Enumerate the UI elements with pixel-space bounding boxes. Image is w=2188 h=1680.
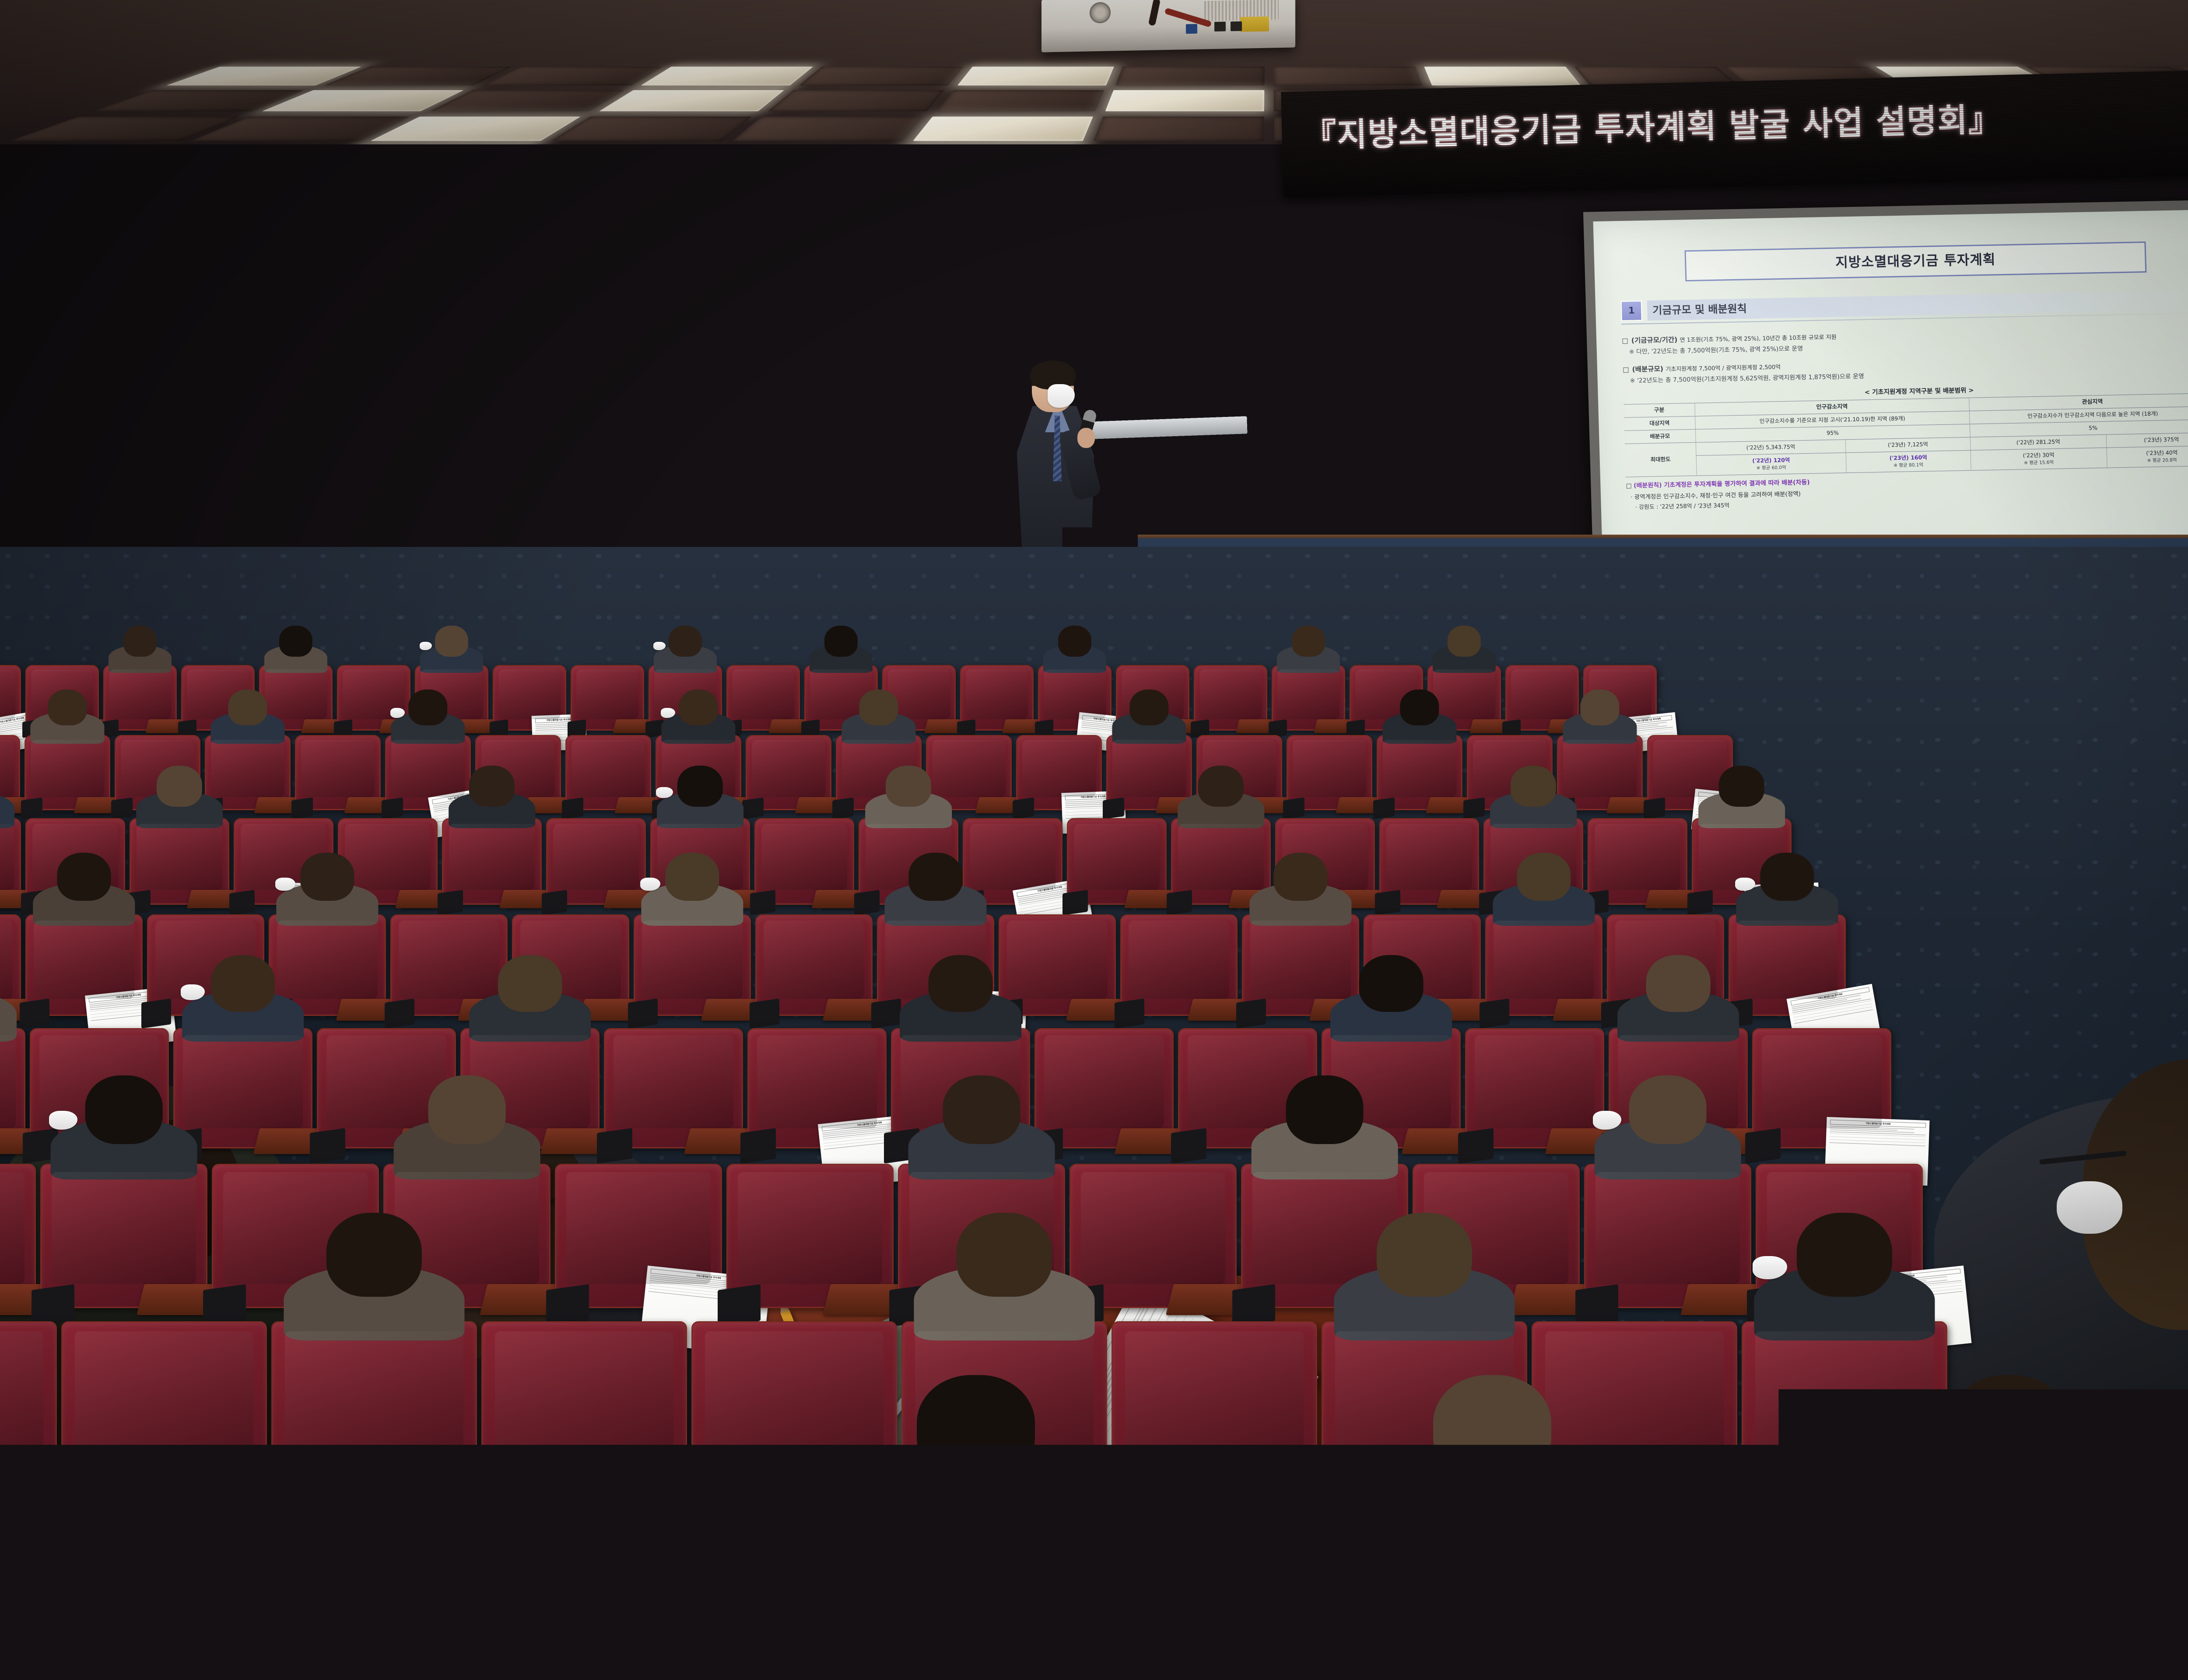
seat-armrest [597, 1128, 632, 1164]
auditorium-seat[interactable] [1365, 1509, 1619, 1680]
attendee-head [679, 689, 718, 725]
ac-vent-grille [1012, 196, 1128, 224]
auditorium-seat[interactable] [1069, 1164, 1237, 1308]
slide-section-header: 1 기금규모 및 배분원칙 [1621, 290, 2188, 321]
auditorium-seat[interactable] [1107, 1509, 1361, 1680]
seated-attendee [656, 626, 715, 673]
auditorium-seat[interactable] [173, 1028, 312, 1148]
auditorium-seat[interactable] [571, 665, 644, 731]
seat-armrest [438, 890, 463, 915]
screen-surface: 지방소멸대응기금 투자계획 1 기금규모 및 배분원칙 □(기금규모/기간) 연… [1593, 209, 2188, 579]
presenter-hand [1077, 428, 1095, 448]
auditorium-seat[interactable] [726, 665, 800, 731]
banner-logo: 양구로부터 다함께 행복해 집니다 [1203, 154, 1286, 176]
banner-logo-text: 양구로부터 [1222, 157, 1266, 169]
auditorium-seat[interactable] [1882, 1509, 2135, 1680]
auditorium-seat[interactable] [0, 1164, 36, 1308]
seated-attendee [32, 689, 102, 744]
slide-data-table: 구분 인구감소지역 관심지역 대상지역 인구감소지수를 기준으로 지정 고시('… [1623, 393, 2188, 477]
slide-title-box: 지방소멸대응기금 투자계획 [1684, 241, 2146, 281]
attendee-head [859, 689, 898, 725]
attendee-head [123, 626, 157, 657]
auditorium-seat[interactable] [481, 1321, 687, 1498]
poster-main-line1: 인간의 [776, 315, 821, 331]
slide-section-number: 1 [1621, 301, 1642, 321]
bullet-label-1: (기금규모/기간) [1631, 336, 1678, 344]
seat-armrest [854, 890, 880, 915]
seat-armrest [1575, 1284, 1618, 1327]
auditorium-seat[interactable] [61, 1321, 267, 1498]
attendee-head [428, 1075, 506, 1144]
seated-attendee [139, 766, 220, 828]
auditorium-seat[interactable] [1034, 1028, 1174, 1148]
projector-label [1240, 17, 1269, 32]
framed-landscape-picture [0, 260, 53, 427]
seated-attendee [659, 766, 741, 828]
attendee-head [908, 853, 962, 901]
seated-attendee [870, 1375, 1081, 1533]
seated-attendee [0, 955, 13, 1042]
auditorium-seat[interactable]: 지방소멸대응기금 투자계획 [1038, 665, 1112, 731]
footnote-text-1: (배분원칙) 기초계정은 투자계획을 평가하여 결과에 따라 배분(차등) [1634, 479, 1810, 490]
auditorium-seat[interactable] [591, 1509, 845, 1680]
seat-armrest [291, 797, 313, 819]
seat-row [0, 1509, 2140, 1680]
attendee-head [157, 766, 202, 807]
table-avg-2: ※ 평균 15.6억 [1972, 458, 2105, 468]
seat-armrest [382, 797, 403, 819]
seated-attendee [844, 689, 914, 744]
table-cap-cell-3: ('23년) 40억 ※ 평균 20.8억 [2107, 445, 2188, 468]
seated-attendee [1565, 689, 1635, 744]
seated-attendee [0, 766, 12, 828]
seat-armrest [546, 1284, 589, 1327]
poster-bracket-right: ] [823, 328, 825, 335]
attendee-head [300, 853, 354, 901]
seat-armrest [385, 999, 414, 1029]
table-cap-2: ('22년) 30억 [2023, 451, 2054, 458]
campaign-poster: 노상방뇨 행복한 변화 강원시대 [ 인간의 존엄 ] 강원도지사최 문 순 [759, 274, 840, 400]
seat-armrest [111, 797, 133, 819]
running-man-icon [452, 279, 463, 297]
seat-armrest [203, 1284, 246, 1327]
seated-attendee [110, 626, 170, 673]
seated-attendee [393, 689, 463, 744]
attendee-head [1760, 853, 1814, 901]
seated-attendee [1493, 766, 1574, 828]
poster-subtitle: 행복한 변화 강원시대 [776, 307, 821, 314]
table-cap-cell-2: ('22년) 30억 ※ 평균 15.6억 [1971, 448, 2107, 470]
auditorium-seat[interactable] [1112, 1321, 1317, 1498]
auditorium-seat[interactable] [1106, 735, 1192, 810]
banner-divider [1224, 184, 1264, 185]
auditorium-seat[interactable] [546, 818, 646, 905]
table-cap-cell-1: ('23년) 160억 ※ 평균 80.1억 [1846, 450, 1971, 473]
seat-armrest [1232, 1284, 1275, 1327]
yanggu-vertical-banner: 양구로부터 다함께 행복해 집니다 다함께 만드는 양구 [1203, 145, 1286, 583]
attendee-head [1517, 853, 1571, 901]
projector-fan-icon [1090, 2, 1111, 24]
seat-armrest [1375, 890, 1400, 915]
led-banner-title: 『지방소멸대응기금 투자계획 발굴 사업 설명회』 [1303, 93, 2002, 157]
seated-attendee [1903, 1375, 2114, 1533]
seated-attendee [213, 689, 283, 744]
auditorium-seat[interactable] [103, 665, 177, 731]
seated-attendee [644, 853, 740, 926]
auditorium-seat[interactable] [1623, 1509, 1877, 1680]
air-conditioner-unit [1006, 192, 1133, 227]
seat-armrest [1115, 999, 1144, 1029]
auditorium-seat[interactable] [634, 914, 751, 1016]
seated-attendee [1045, 626, 1105, 673]
seated-attendee [451, 766, 533, 828]
seated-attendee [186, 955, 300, 1042]
table-avg-3: ※ 평균 20.8억 [2108, 456, 2188, 465]
table-row-label-0: 대상지역 [1624, 416, 1695, 431]
seated-attendee [1599, 1075, 1737, 1179]
seated-attendee [279, 853, 375, 926]
seat-armrest [742, 797, 764, 819]
attendee-head [1198, 766, 1244, 807]
attendee-head [57, 853, 111, 901]
seated-attendee [1339, 1213, 1510, 1340]
ceiling-coffer [799, 66, 964, 85]
auditorium-seat[interactable]: 지방소멸대응기금 투자계획 [1752, 1028, 1891, 1148]
seated-attendee [912, 1075, 1051, 1179]
attendee-head [1950, 1375, 2068, 1479]
seat-armrest [718, 1284, 761, 1327]
auditorium-seat[interactable] [1194, 665, 1267, 731]
auditorium-seat[interactable] [74, 1509, 328, 1680]
attendee-head [1292, 626, 1325, 657]
attendee-head [279, 626, 312, 657]
seat-armrest [310, 1128, 345, 1164]
auditorium-seat[interactable] [746, 735, 831, 810]
ceiling-projector [1041, 0, 1295, 52]
seat-armrest [1480, 999, 1509, 1029]
seat-armrest [1013, 797, 1034, 819]
auditorium-seat[interactable] [442, 818, 542, 905]
auditorium-seat[interactable] [1287, 735, 1372, 810]
seated-attendee [1114, 689, 1184, 744]
attendee-head [469, 766, 515, 807]
slide-title: 지방소멸대응기금 투자계획 [1686, 247, 2146, 276]
seated-attendee [1279, 626, 1338, 673]
attendee-head [1400, 689, 1439, 725]
attendee-head [211, 955, 275, 1012]
seated-attendee [1387, 1375, 1598, 1533]
bullet-text-2: 기초지원계정 7,500억 / 광역지원계정 2,500억 [1666, 364, 1781, 373]
attendee-head [408, 689, 447, 725]
seated-attendee [36, 853, 132, 926]
seated-attendee [55, 1075, 193, 1179]
auditorium-seat[interactable]: 지방소멸대응기금 투자계획 [1016, 735, 1102, 810]
seated-attendee [473, 955, 587, 1042]
slide-body: □(기금규모/기간) 연 1조원(기초 75%, 광역 25%), 10년간 총… [1622, 325, 2188, 512]
auditorium-seat[interactable] [604, 1028, 743, 1148]
seat-armrest [21, 797, 42, 819]
table-cap-0: ('22년) 120억 [1752, 456, 1790, 464]
exit-sign-face [433, 273, 481, 303]
auditorium-seat[interactable]: 지방소멸대응기금 투자계획 [493, 665, 566, 731]
attendee-head [1719, 766, 1764, 807]
attendee-head [929, 955, 993, 1012]
presenter-face-mask [1048, 384, 1075, 408]
seated-attendee [887, 853, 984, 926]
seat-armrest [1283, 797, 1304, 819]
seated-attendee [1759, 1213, 1930, 1340]
seated-attendee [919, 1213, 1090, 1340]
attendee-head [435, 626, 468, 657]
attendee-head [1448, 626, 1481, 657]
auditorium-seat[interactable]: 지방소멸대응기금 투자계획 [555, 1164, 722, 1308]
auditorium-seat[interactable] [1120, 914, 1238, 1016]
seat-armrest [20, 999, 49, 1029]
seated-attendee [1739, 853, 1835, 926]
auditorium-seat[interactable] [1584, 1164, 1751, 1308]
attendee-head [498, 955, 562, 1012]
seated-attendee [1255, 1075, 1394, 1179]
seat-armrest [750, 890, 775, 915]
attendee-head [824, 626, 858, 657]
seat-armrest [229, 890, 255, 915]
seated-attendee [811, 626, 871, 673]
auditorium-seat[interactable] [726, 1164, 894, 1308]
seat-armrest [1062, 890, 1088, 915]
projector-port-vga [1231, 21, 1242, 31]
bullet-label-2: (배분규모) [1632, 365, 1663, 373]
seated-attendee [266, 626, 326, 673]
table-row-label-1: 배분규모 [1624, 429, 1696, 444]
attendee-head [677, 766, 723, 807]
auditorium-seat[interactable] [1588, 818, 1687, 905]
ceiling-coffer [483, 66, 663, 85]
wall-speaker-right [1112, 219, 1179, 306]
poster-bracket-left: [ [773, 329, 775, 335]
auditorium-seat[interactable] [0, 818, 21, 905]
seat-armrest [141, 999, 171, 1029]
table-row-label-limit: 최대한도 [1625, 442, 1697, 477]
presentation-slide: 지방소멸대응기금 투자계획 1 기금규모 및 배분원칙 □(기금규모/기간) 연… [1593, 209, 2188, 579]
attendee-head [665, 853, 719, 901]
bullet-text-1: 연 1조원(기초 75%, 광역 25%), 10년간 총 10조원 규모로 지… [1680, 334, 1836, 343]
seat-armrest [1236, 999, 1266, 1029]
table-cap-1: ('23년) 160억 [1889, 454, 1927, 461]
attendee-head [1377, 1213, 1472, 1297]
presenter-speaker [1006, 363, 1107, 569]
seated-attendee [1334, 955, 1448, 1042]
auditorium-seat[interactable] [849, 1509, 1103, 1680]
seated-attendee [1252, 853, 1349, 926]
seated-attendee [1701, 766, 1782, 828]
attendee-head [1273, 853, 1327, 901]
auditorium-seat[interactable] [754, 818, 854, 905]
attendee-head [1129, 689, 1168, 725]
auditorium-seat[interactable] [0, 1509, 70, 1680]
auditorium-seat[interactable] [755, 914, 873, 1016]
poster-role: 강원도지사 [780, 389, 798, 393]
table-cap-3: ('23년) 40억 [2146, 449, 2177, 456]
auditorium-seat[interactable] [960, 665, 1034, 731]
seat-armrest [750, 999, 779, 1029]
auditorium-seat[interactable]: 지방소멸대응기금 투자계획 [271, 1321, 477, 1498]
foreground-attendee-right-mask [2057, 1181, 2122, 1234]
poster-tag: 노상방뇨 [785, 277, 812, 285]
seat-armrest [1171, 1128, 1206, 1164]
auditorium-seat[interactable] [130, 818, 229, 905]
auditorium-seat[interactable] [1272, 665, 1345, 731]
footnote-square-icon: □ [1626, 483, 1632, 490]
banner-slogan: 다함께 만드는 양구 [1203, 195, 1286, 292]
seat-armrest [871, 999, 901, 1029]
table-amount-3: ('23년) 375억 [2106, 432, 2188, 448]
seated-attendee [398, 1075, 536, 1179]
attendee-head [957, 1213, 1052, 1297]
handout-title-small: 지방소멸대응기금 투자계획 [1830, 1120, 1926, 1128]
seat-armrest [542, 890, 567, 915]
projection-screen: 지방소멸대응기금 투자계획 1 기금규모 및 배분원칙 □(기금규모/기간) 연… [1583, 199, 2188, 593]
attendee-head [669, 626, 702, 657]
slide-section-title: 기금규모 및 배분원칙 [1647, 290, 2188, 321]
ceiling-light-panel [641, 66, 813, 85]
auditorium-seat[interactable] [333, 1509, 586, 1680]
seated-attendee [868, 766, 949, 828]
attendee-head [1629, 1075, 1707, 1144]
poster-signature: 강원도지사최 문 순 [780, 385, 819, 394]
handout-table-block [1830, 1131, 1926, 1146]
attendee-head [1511, 766, 1556, 807]
seat-armrest [1745, 1128, 1781, 1164]
attendee-head [85, 1075, 163, 1144]
bullet-square-icon-1: □ [1622, 336, 1628, 344]
seated-attendee [1385, 689, 1455, 744]
auditorium-seat[interactable] [1465, 1028, 1604, 1148]
seat-armrest [1463, 797, 1485, 819]
seat-armrest [1458, 1128, 1494, 1164]
table-cap-cell-0: ('22년) 120억 ※ 평균 60.0억 [1696, 452, 1846, 476]
projector-cable [1148, 0, 1161, 26]
auditorium-seat[interactable]: 지방소멸대응기금 투자계획 [25, 914, 143, 1016]
attendee-head [1286, 1075, 1364, 1144]
table-header-0: 구분 [1623, 403, 1695, 418]
attendee-head [1058, 626, 1091, 657]
attendee-head [1797, 1213, 1892, 1297]
attendee-head [1359, 955, 1424, 1012]
auditorium-scene: 노상방뇨 행복한 변화 강원시대 [ 인간의 존엄 ] 강원도지사최 문 순 양… [0, 0, 2188, 1680]
attendee-head [228, 689, 267, 725]
auditorium-seat[interactable] [25, 735, 110, 810]
attendee-head [1580, 689, 1619, 725]
auditorium-seat[interactable] [1379, 818, 1479, 905]
seat-armrest [628, 999, 658, 1029]
poster-name-text: 최 문 순 [800, 387, 819, 394]
auditorium-seat[interactable] [1067, 818, 1167, 905]
seat-armrest [1167, 890, 1192, 915]
ceiling-coffer [1115, 66, 1265, 85]
seat-armrest [1373, 797, 1395, 819]
attendee-face-mask [181, 984, 204, 1000]
seated-attendee [422, 626, 481, 673]
auditorium-seat[interactable] [565, 735, 651, 810]
seat-armrest [32, 1284, 74, 1327]
attendee-head [1433, 1375, 1551, 1479]
table-avg-0: ※ 평균 60.0억 [1698, 464, 1845, 473]
seat-armrest [832, 797, 854, 819]
poster-main-text: 인간의 존엄 [776, 315, 821, 347]
auditorium-seat[interactable] [40, 1164, 207, 1308]
seated-attendee [1496, 853, 1592, 926]
auditorium-seat[interactable]: 지방소멸대응기금 투자계획 [747, 1028, 887, 1148]
auditorium-seat[interactable] [0, 1321, 57, 1498]
seated-attendee [903, 955, 1018, 1042]
emergency-exit-sign [431, 271, 484, 305]
poster-main-line2: 존엄 [777, 331, 822, 348]
seated-attendee [663, 689, 733, 744]
attendee-head [1646, 955, 1711, 1012]
bullet-square-icon-2: □ [1623, 365, 1629, 373]
auditorium-seat[interactable] [0, 1028, 25, 1148]
auditorium-seat[interactable]: 지방소멸대응기금 투자계획 [0, 665, 21, 731]
seat-armrest [1687, 890, 1713, 915]
projector-port-hdmi [1214, 21, 1226, 31]
auditorium-seat[interactable] [691, 1321, 897, 1498]
attendee-head [48, 689, 87, 725]
attendee-head [886, 766, 931, 807]
auditorium-seat[interactable] [1485, 914, 1602, 1016]
seated-attendee [289, 1213, 459, 1340]
attendee-head [326, 1213, 422, 1297]
seat-armrest [1103, 797, 1124, 819]
ceiling-light-panel [957, 66, 1114, 85]
banner-logo-sub: 다함께 행복해 집니다 [1203, 170, 1286, 176]
seated-attendee [1434, 626, 1494, 673]
seat-armrest [562, 797, 583, 819]
auditorium-seat[interactable]: 지방소멸대응기금 투자계획 [1729, 914, 1846, 1016]
attendee-head [943, 1075, 1020, 1144]
ceiling-coffer [1273, 66, 1423, 85]
attendee-head [917, 1375, 1035, 1479]
seated-attendee [1621, 955, 1736, 1042]
auditorium-seat[interactable] [295, 735, 381, 810]
projector-port-blue [1186, 24, 1197, 34]
seat-armrest [740, 1128, 776, 1164]
ceiling-light-panel [1424, 66, 1581, 85]
landscape-artwork [0, 263, 50, 423]
table-avg-1: ※ 평균 80.1억 [1848, 461, 1969, 470]
poster-bracket-row: [ 인간의 존엄 ] [773, 315, 825, 347]
seat-armrest [1644, 797, 1665, 819]
seated-attendee [1180, 766, 1262, 828]
auditorium-seat[interactable] [1377, 735, 1462, 810]
